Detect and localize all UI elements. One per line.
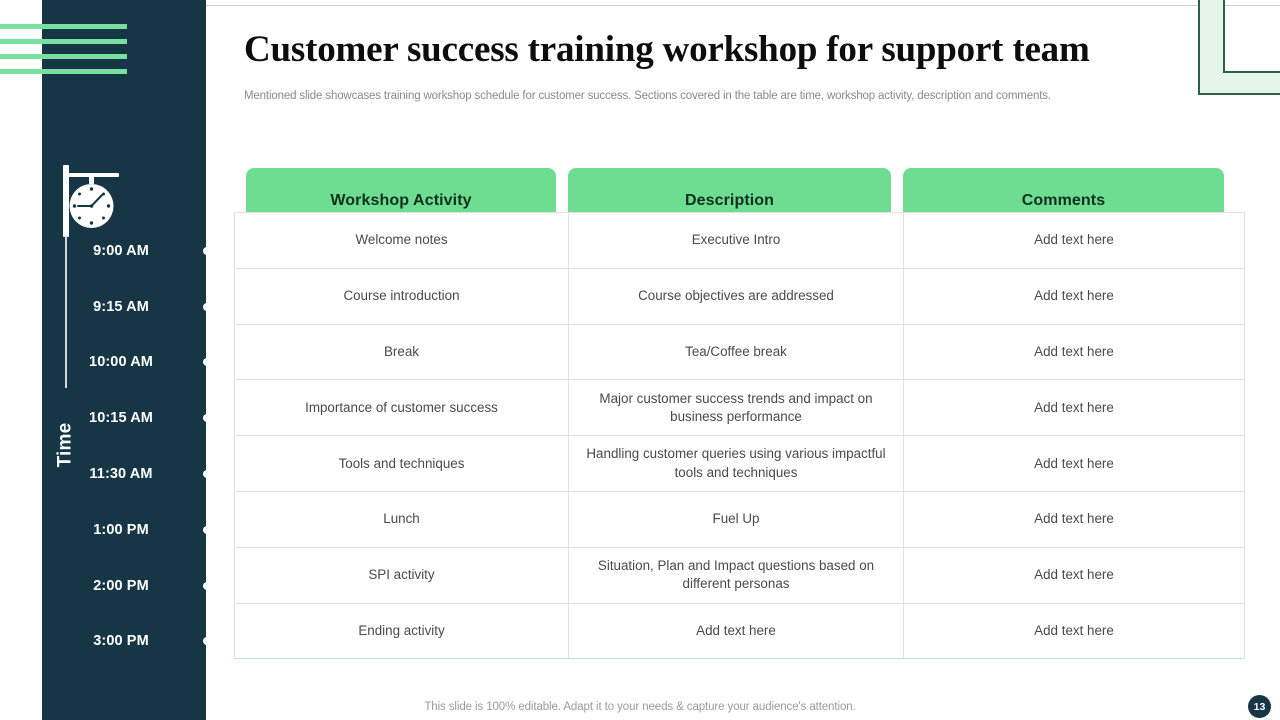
cell-comments: Add text here xyxy=(904,380,1245,436)
time-value: 10:00 AM xyxy=(42,354,200,370)
time-value: 2:00 PM xyxy=(42,578,200,594)
cell-activity: Ending activity xyxy=(235,603,569,659)
time-value: 3:00 PM xyxy=(42,633,200,649)
table-row: Tools and techniques Handling customer q… xyxy=(235,436,1245,492)
pointer-triangle-icon xyxy=(213,356,222,368)
green-stripes-decoration xyxy=(0,24,127,72)
pointer-dot-icon xyxy=(203,526,211,534)
row-pointer-marker xyxy=(203,245,231,257)
time-value: 9:15 AM xyxy=(42,299,200,315)
time-row: 3:00 PM xyxy=(42,614,234,670)
page-subtitle: Mentioned slide showcases training works… xyxy=(244,89,1174,105)
green-stripe-4 xyxy=(0,69,127,74)
pointer-triangle-icon xyxy=(213,468,222,480)
row-pointer-marker xyxy=(203,580,231,592)
cell-description: Add text here xyxy=(569,603,904,659)
cell-comments: Add text here xyxy=(904,213,1245,269)
page-title: Customer success training workshop for s… xyxy=(244,28,1184,72)
cell-activity: SPI activity xyxy=(235,547,569,603)
time-value: 11:30 AM xyxy=(42,466,200,482)
time-value: 9:00 AM xyxy=(42,243,200,259)
cell-description: Major customer success trends and impact… xyxy=(569,380,904,436)
slide-canvas: Time 9:00 AM 9:15 AM 10:00 AM 10:15 xyxy=(0,0,1280,720)
row-pointer-marker xyxy=(203,356,231,368)
row-pointer-marker xyxy=(203,468,231,480)
pointer-dot-icon xyxy=(203,247,211,255)
cell-activity: Welcome notes xyxy=(235,213,569,269)
cell-activity: Course introduction xyxy=(235,268,569,324)
pointer-dot-icon xyxy=(203,358,211,366)
table-row: Welcome notes Executive Intro Add text h… xyxy=(235,213,1245,269)
cell-description: Situation, Plan and Impact questions bas… xyxy=(569,547,904,603)
pointer-dot-icon xyxy=(203,414,211,422)
cell-description: Handling customer queries using various … xyxy=(569,436,904,492)
pointer-triangle-icon xyxy=(213,412,222,424)
schedule-table-body: Welcome notes Executive Intro Add text h… xyxy=(234,212,1245,659)
cell-activity: Lunch xyxy=(235,491,569,547)
pointer-dot-icon xyxy=(203,582,211,590)
table-row: SPI activity Situation, Plan and Impact … xyxy=(235,547,1245,603)
cell-comments: Add text here xyxy=(904,436,1245,492)
cell-description: Executive Intro xyxy=(569,213,904,269)
cell-activity: Importance of customer success xyxy=(235,380,569,436)
time-row: 9:15 AM xyxy=(42,279,234,335)
time-row: 1:00 PM xyxy=(42,502,234,558)
time-column: 9:00 AM 9:15 AM 10:00 AM 10:15 AM xyxy=(42,223,234,669)
corner-l-shape-decoration xyxy=(1198,0,1280,96)
row-pointer-marker xyxy=(203,524,231,536)
pointer-dot-icon xyxy=(203,637,211,645)
pointer-dot-icon xyxy=(203,470,211,478)
top-hairline xyxy=(206,5,1280,6)
green-stripe-3 xyxy=(0,54,127,59)
green-stripe-1 xyxy=(0,24,127,29)
cell-activity: Tools and techniques xyxy=(235,436,569,492)
row-pointer-marker xyxy=(203,301,231,313)
cell-comments: Add text here xyxy=(904,491,1245,547)
time-row: 10:00 AM xyxy=(42,335,234,391)
schedule-table: Workshop Activity Description Comments W… xyxy=(234,168,1244,659)
cell-comments: Add text here xyxy=(904,547,1245,603)
pointer-triangle-icon xyxy=(213,245,222,257)
cell-activity: Break xyxy=(235,324,569,380)
page-number-badge: 13 xyxy=(1248,695,1271,718)
time-row: 9:00 AM xyxy=(42,223,234,279)
cell-description: Fuel Up xyxy=(569,491,904,547)
time-row: 2:00 PM xyxy=(42,558,234,614)
row-pointer-marker xyxy=(203,635,231,647)
pointer-dot-icon xyxy=(203,303,211,311)
table-row: Course introduction Course objectives ar… xyxy=(235,268,1245,324)
cell-comments: Add text here xyxy=(904,268,1245,324)
pointer-triangle-icon xyxy=(213,301,222,313)
cell-description: Tea/Coffee break xyxy=(569,324,904,380)
cell-description: Course objectives are addressed xyxy=(569,268,904,324)
row-pointer-marker xyxy=(203,412,231,424)
table-row: Break Tea/Coffee break Add text here xyxy=(235,324,1245,380)
time-value: 10:15 AM xyxy=(42,410,200,426)
pointer-triangle-icon xyxy=(213,524,222,536)
table-row: Importance of customer success Major cus… xyxy=(235,380,1245,436)
cell-comments: Add text here xyxy=(904,603,1245,659)
table-row: Ending activity Add text here Add text h… xyxy=(235,603,1245,659)
table-row: Lunch Fuel Up Add text here xyxy=(235,491,1245,547)
pointer-triangle-icon xyxy=(213,580,222,592)
cell-comments: Add text here xyxy=(904,324,1245,380)
time-value: 1:00 PM xyxy=(42,522,200,538)
time-row: 10:15 AM xyxy=(42,390,234,446)
green-stripe-2 xyxy=(0,39,127,44)
time-row: 11:30 AM xyxy=(42,446,234,502)
pointer-triangle-icon xyxy=(213,635,222,647)
